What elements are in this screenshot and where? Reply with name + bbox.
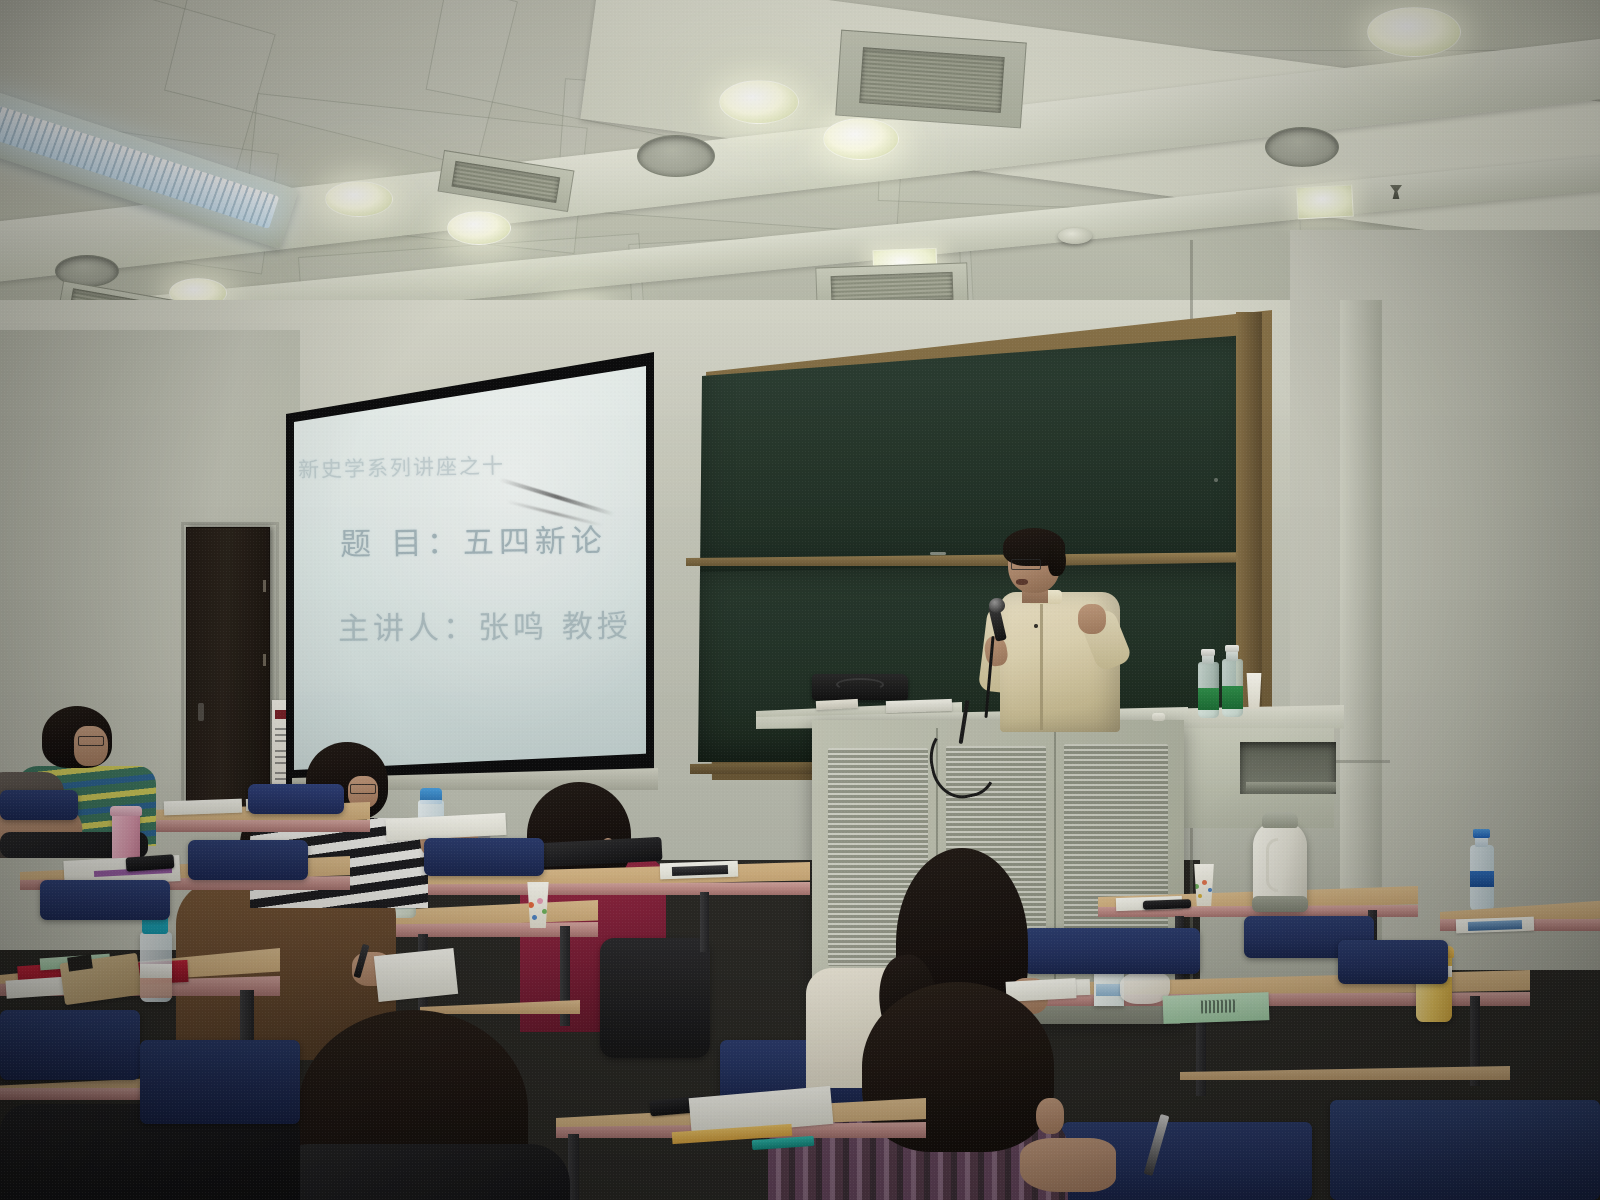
- projection-screen-glare: [294, 362, 646, 770]
- bottle-cap: [1225, 645, 1239, 652]
- chalk-dust: [1214, 478, 1218, 482]
- downlight-icon: [823, 118, 899, 160]
- square-light-icon: [1296, 185, 1354, 220]
- chair[interactable]: [140, 1040, 300, 1124]
- student-body: [270, 1144, 570, 1200]
- chair[interactable]: [40, 880, 170, 920]
- microphone-head: [989, 598, 1005, 613]
- papers-on-desk: [164, 799, 242, 816]
- door[interactable]: [186, 527, 270, 819]
- glasses-icon: [78, 736, 104, 746]
- thermos-base: [1252, 896, 1308, 912]
- lapel-mic-icon: [1034, 624, 1038, 628]
- door-hinge: [263, 654, 266, 666]
- door-handle[interactable]: [198, 703, 204, 721]
- lecture-hall-photograph: 新史学系列讲座之十 题 目：五四新论 主讲人：张鸣 教授: [0, 0, 1600, 1200]
- open-notebook: [374, 948, 458, 1002]
- air-vent-icon: [859, 47, 1005, 113]
- papers-on-desk: [1006, 978, 1077, 1002]
- thermos-lid: [110, 806, 142, 816]
- thermos-handle: [1266, 838, 1278, 892]
- lecturer-hair-side: [1048, 543, 1066, 576]
- chair[interactable]: [600, 938, 710, 1058]
- papers-on-side-table: [886, 699, 952, 713]
- downlight-off-icon: [637, 135, 715, 177]
- desk-leg: [700, 892, 709, 952]
- downlight-off-icon: [1265, 127, 1339, 167]
- slide-speaker-line: 主讲人：张鸣 教授: [338, 600, 632, 648]
- chair[interactable]: [424, 838, 544, 876]
- slide-series-heading: 新史学系列讲座之十: [298, 450, 506, 484]
- downlight-icon: [325, 181, 393, 217]
- chair[interactable]: [1024, 928, 1200, 974]
- student-ear: [1036, 1098, 1064, 1134]
- lecturer-right-fist: [1078, 604, 1106, 634]
- desk-shelf: [420, 1000, 580, 1014]
- thermos-lid: [1262, 812, 1298, 828]
- air-vent-frame: [835, 30, 1027, 129]
- printed-image-on-paper: [1468, 920, 1522, 931]
- chair[interactable]: [1338, 940, 1448, 984]
- bottle-cap: [1201, 649, 1215, 656]
- green-label-water-bottle: [1198, 662, 1219, 718]
- chair[interactable]: [0, 790, 78, 820]
- door-hinge: [263, 580, 266, 592]
- podium-keyboard-tray[interactable]: [1246, 782, 1336, 792]
- small-object-on-podium: [1152, 713, 1165, 721]
- bag-handle: [836, 678, 884, 691]
- desk-shelf: [1180, 1066, 1510, 1080]
- downlight-icon: [719, 80, 799, 124]
- lecturer-mouth: [1016, 579, 1028, 585]
- glasses-icon: [1011, 559, 1041, 570]
- green-notebook: [1163, 992, 1270, 1024]
- chair[interactable]: [0, 1010, 140, 1080]
- slide-title-line: 题 目：五四新论: [340, 515, 607, 564]
- smoke-detector-icon: [1058, 228, 1092, 244]
- bottle-neck: [1226, 651, 1238, 661]
- chalk-piece: [930, 552, 946, 555]
- shirt-placket: [1040, 598, 1043, 730]
- student-face: [74, 726, 108, 766]
- wall-pillar: [1340, 300, 1382, 980]
- chair[interactable]: [1330, 1100, 1600, 1200]
- chair[interactable]: [188, 840, 308, 880]
- chair[interactable]: [248, 784, 344, 814]
- teal-cap-water-bottle: [140, 932, 172, 1002]
- downlight-icon: [447, 211, 511, 245]
- green-label-water-bottle: [1222, 659, 1243, 717]
- glasses-icon: [350, 784, 376, 794]
- mobile-phone: [1143, 899, 1191, 910]
- student-hand: [1020, 1138, 1116, 1192]
- bottle-cap: [1473, 829, 1490, 838]
- blue-cap-water-bottle: [1470, 845, 1494, 911]
- downlight-icon: [1367, 7, 1461, 57]
